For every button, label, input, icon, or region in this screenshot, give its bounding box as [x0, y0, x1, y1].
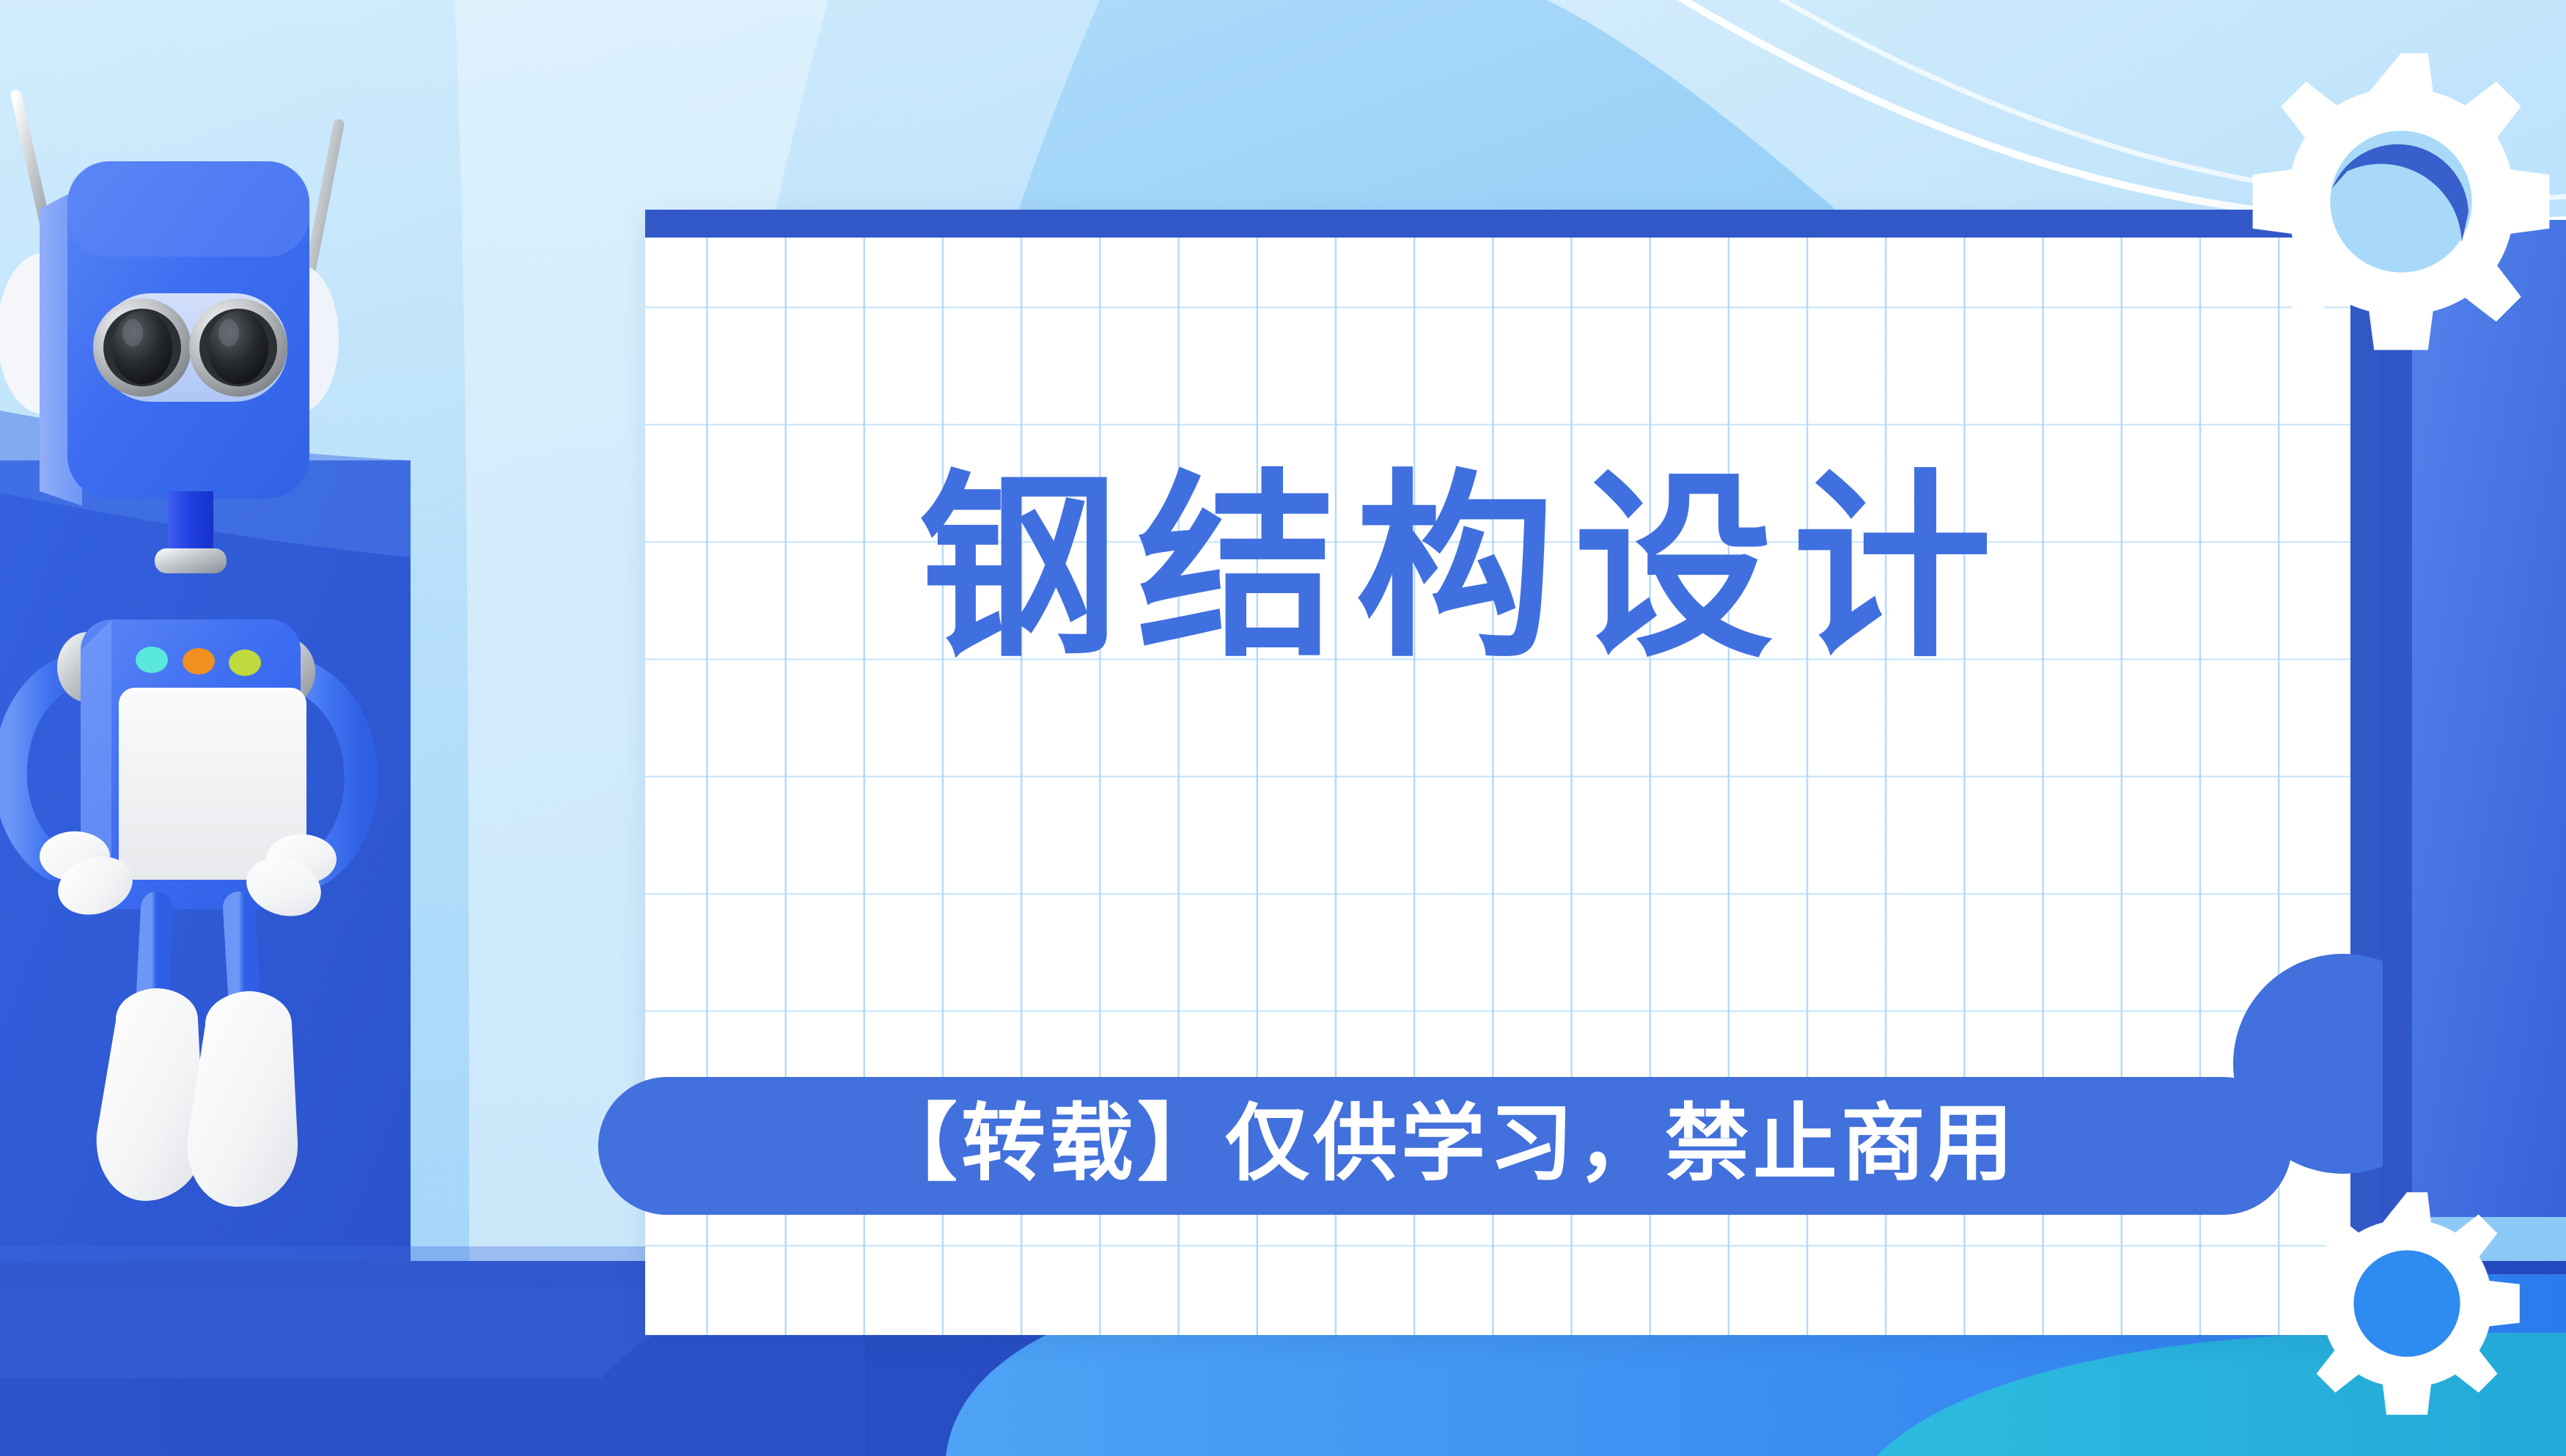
eye-right — [189, 298, 287, 397]
leg-right — [239, 908, 245, 1006]
gear-icon — [2232, 33, 2566, 370]
subtitle-text: 【转载】仅供学习，禁止商用 — [873, 1102, 2017, 1191]
poster-stage: 钢结构设计 【转载】仅供学习，禁止商用 — [0, 0, 2566, 1456]
card-top-bar — [645, 210, 2383, 238]
neck-ring — [155, 548, 227, 573]
gear-icon — [2286, 1183, 2528, 1424]
status-light-green — [229, 650, 261, 676]
shoe-left — [97, 988, 204, 1201]
status-light-orange — [183, 648, 215, 674]
robot-neck — [168, 491, 213, 557]
page-title: 钢结构设计 — [645, 469, 2265, 669]
shoe-right — [188, 991, 298, 1207]
title-text: 钢结构设计 — [645, 469, 2265, 669]
status-light-cyan — [136, 647, 168, 673]
status-badge: 【转载】仅供学习，禁止商用 — [598, 1077, 2292, 1215]
eye-left — [93, 298, 191, 397]
antenna-right — [311, 125, 339, 268]
robot-mascot — [0, 81, 654, 1342]
